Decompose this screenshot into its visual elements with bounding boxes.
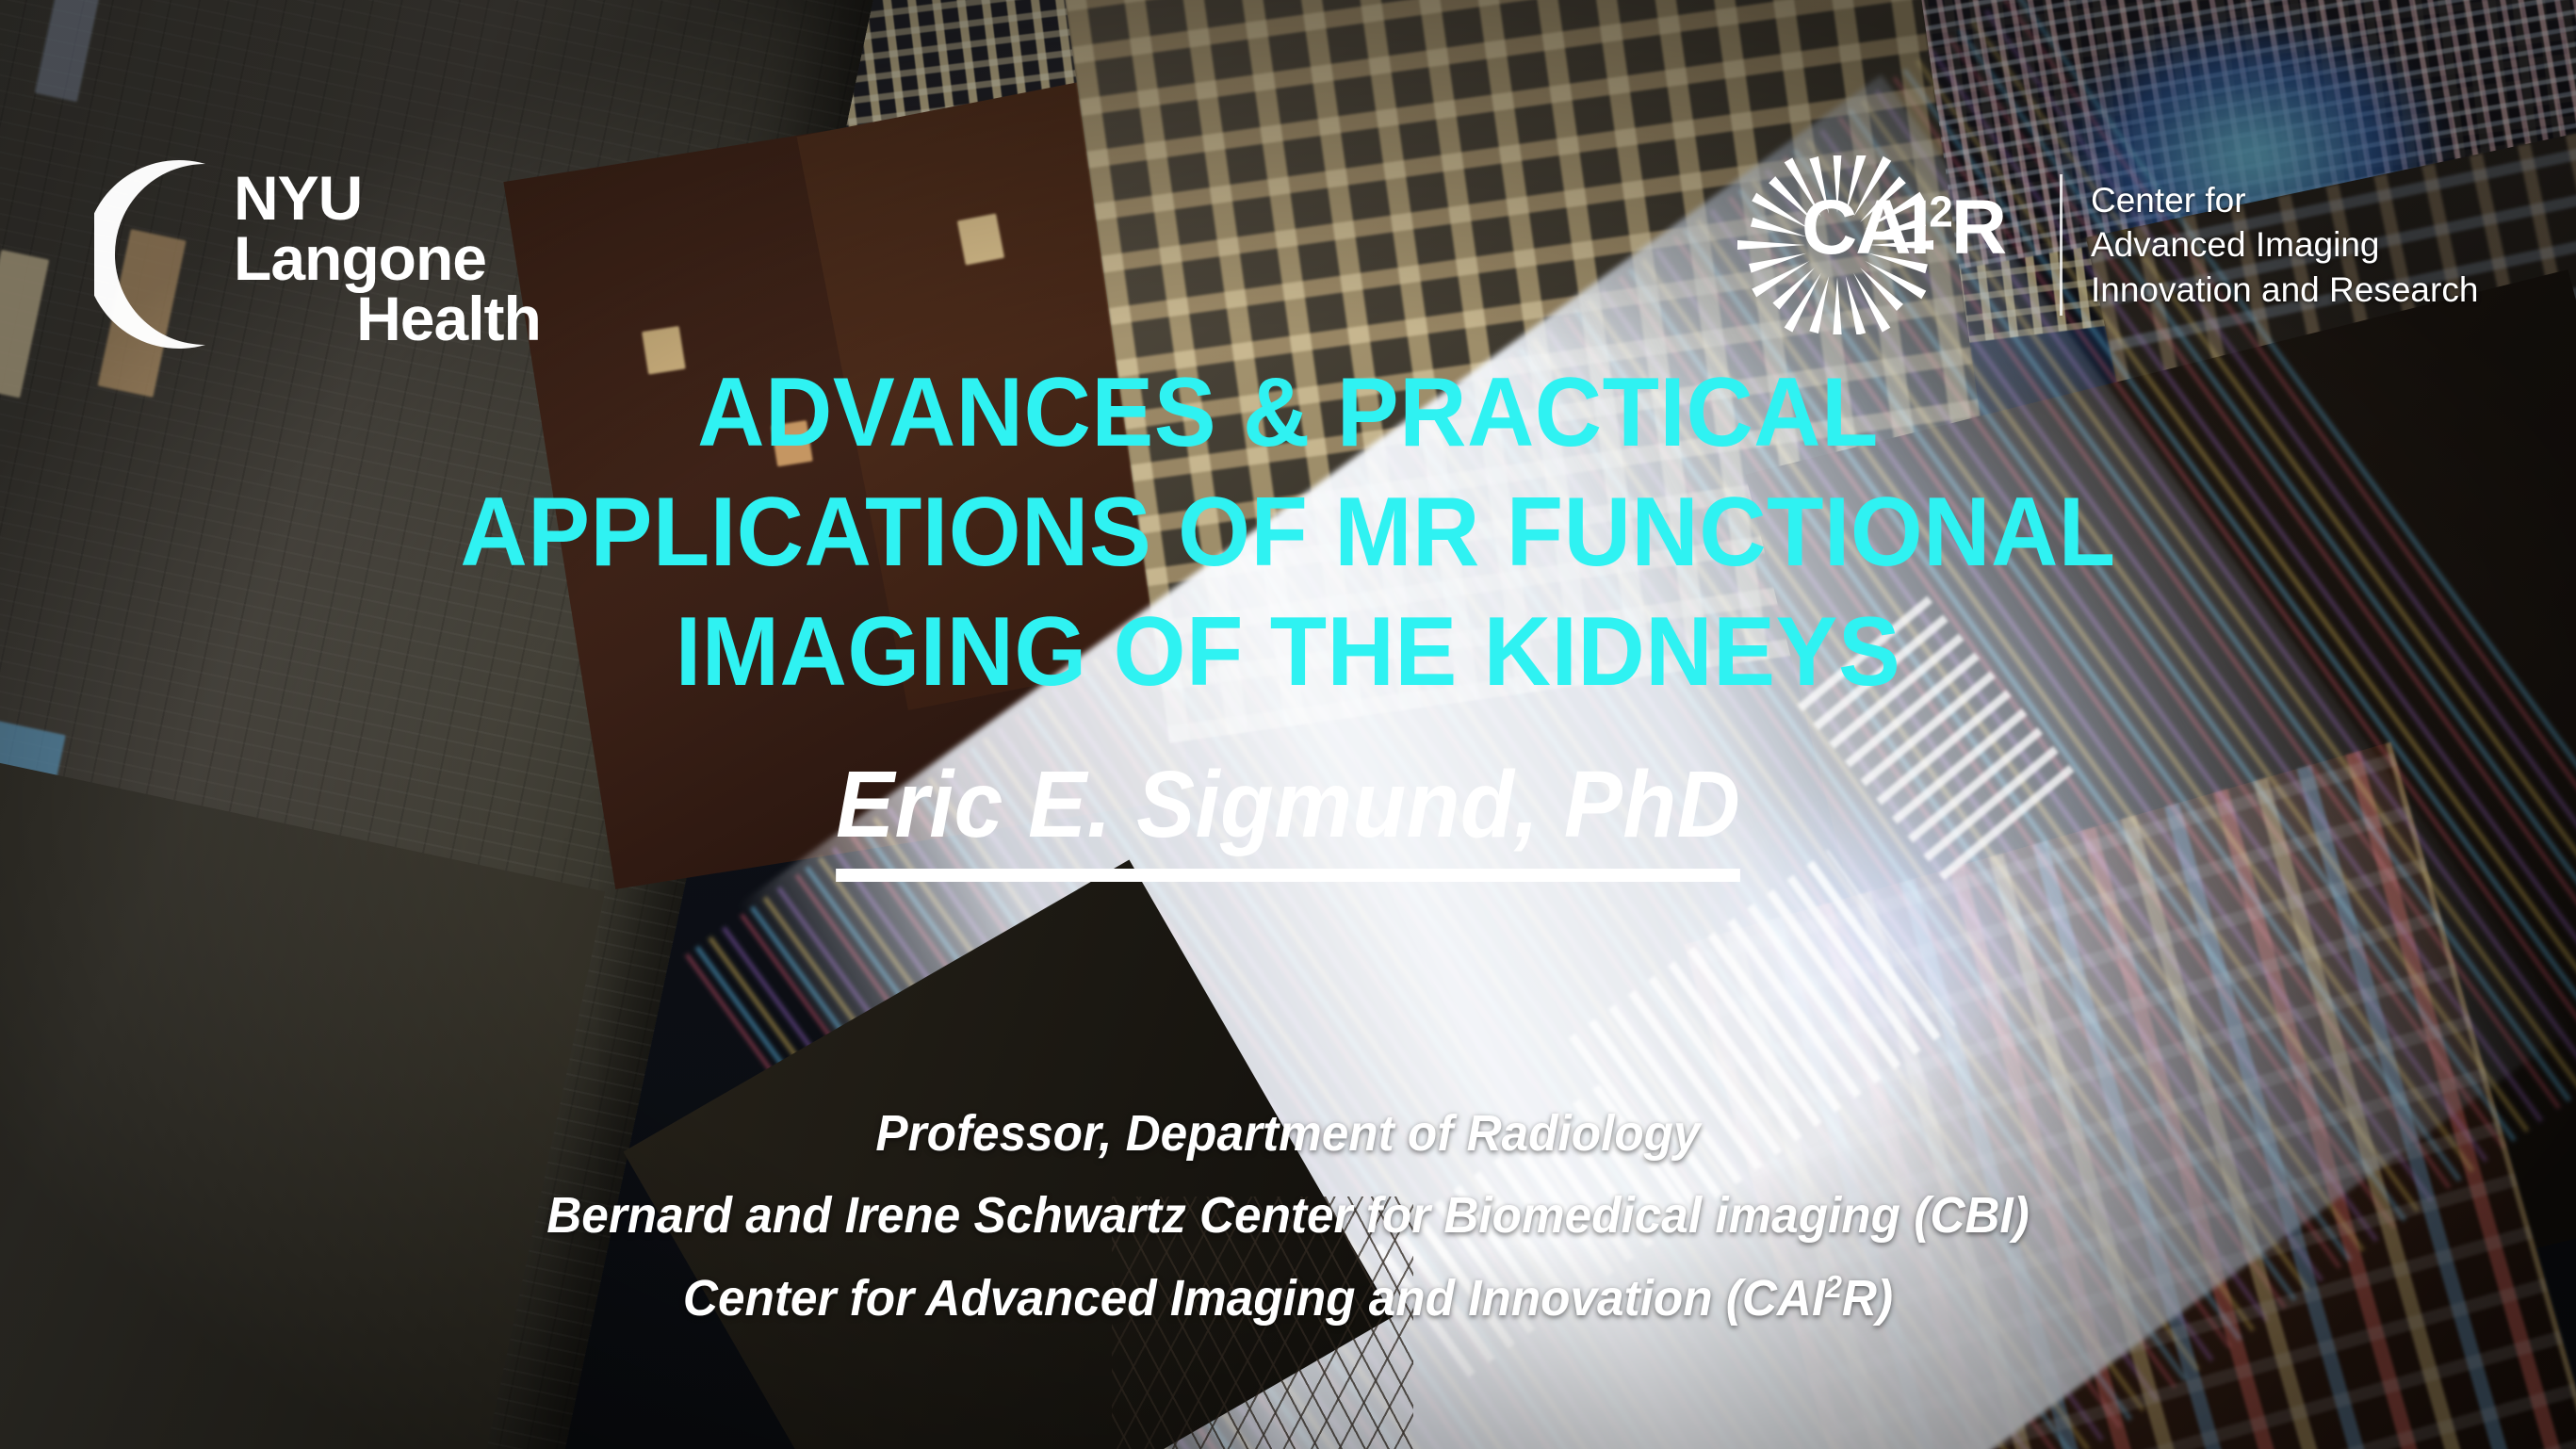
speaker-name: Eric E. Sigmund, PhD [836, 754, 1740, 882]
cair-wordmark-tail: R [1951, 185, 2005, 270]
affiliation-line-3-post: R) [1842, 1270, 1893, 1327]
presentation-title: ADVANCES & PRACTICAL APPLICATIONS OF MR … [64, 353, 2511, 712]
affiliation-line-3: Center for Advanced Imaging and Innovati… [64, 1258, 2511, 1340]
nyu-logo-text: NYU Langone Health [234, 168, 629, 349]
logo-divider [2060, 174, 2062, 316]
cair-tagline: Center for Advanced Imaging Innovation a… [2091, 178, 2478, 312]
title-line-1: ADVANCES & PRACTICAL [64, 353, 2511, 473]
cair-tagline-line1: Center for [2091, 178, 2478, 222]
window-light [957, 213, 1004, 265]
title-line-2: APPLICATIONS OF MR FUNCTIONAL [64, 473, 2511, 593]
title-line-3: IMAGING OF THE KIDNEYS [64, 593, 2511, 712]
title-slide: NYU Langone Health [0, 0, 2576, 1449]
speaker-name-wrapper: Eric E. Sigmund, PhD [0, 754, 2576, 882]
affiliation-line-3-pre: Center for Advanced Imaging and Innovati… [683, 1270, 1825, 1327]
cair-wordmark: CAI2R [1802, 189, 2005, 267]
affiliation-line-3-superscript: 2 [1825, 1270, 1842, 1305]
nyu-langone-health-logo: NYU Langone Health [94, 151, 622, 358]
nyu-logo-line1: NYU Langone [234, 168, 629, 288]
affiliations: Professor, Department of Radiology Berna… [64, 1093, 2511, 1340]
cair-wordmark-superscript: 2 [1929, 187, 1951, 236]
cair-tagline-line2: Advanced Imaging [2091, 222, 2478, 267]
affiliation-line-1: Professor, Department of Radiology [64, 1093, 2511, 1175]
cair-logo: CAI2R Center for Advanced Imaging Innova… [1734, 155, 2516, 334]
affiliation-line-2: Bernard and Irene Schwartz Center for Bi… [64, 1175, 2511, 1257]
nyu-logo-line2: Health [234, 288, 629, 349]
cair-wordmark-main: CAI [1802, 185, 1929, 270]
cair-burst-wrapper: CAI2R [1734, 155, 2016, 334]
cair-tagline-line3: Innovation and Research [2091, 268, 2478, 312]
